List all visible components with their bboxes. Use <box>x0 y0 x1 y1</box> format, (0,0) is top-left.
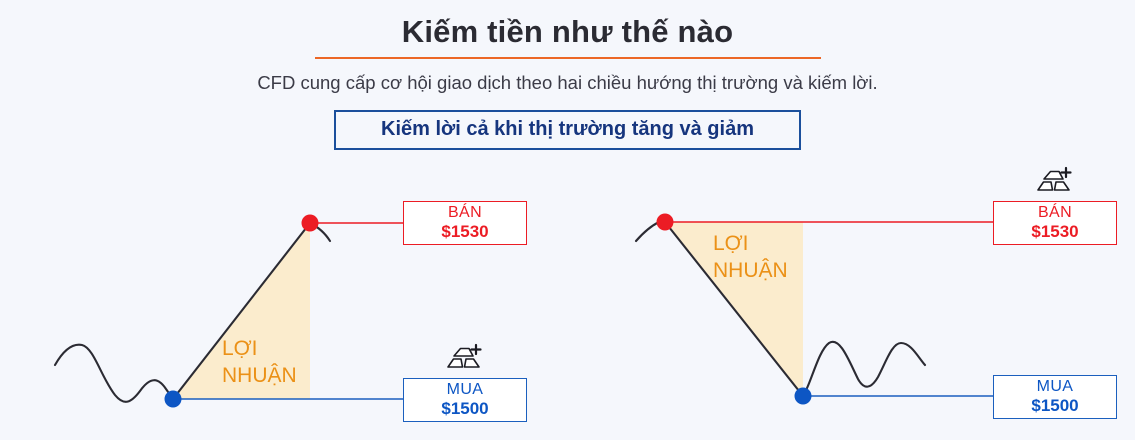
gold-bars-icon-right <box>1030 165 1076 199</box>
sell-label-price-right: $1530 <box>1031 222 1078 242</box>
profit-label-right-line1: LỢI <box>713 232 749 255</box>
sell-label-box-right[interactable]: BÁN $1530 <box>993 201 1117 245</box>
sell-label-title-right: BÁN <box>1038 204 1072 222</box>
buy-label-price-left: $1500 <box>441 399 488 419</box>
sell-label-box-left[interactable]: BÁN $1530 <box>403 201 527 245</box>
cta-banner-label: Kiếm lời cả khi thị trường tăng và giảm <box>381 117 754 141</box>
page-subtitle: CFD cung cấp cơ hội giao dịch theo hai c… <box>0 59 1135 96</box>
sell-label-price-left: $1530 <box>441 222 488 242</box>
page-header: Kiếm tiền như thế nào CFD cung cấp cơ hộ… <box>0 0 1135 150</box>
chart-rising-market: LỢI NHUẬN <box>55 215 403 408</box>
profit-label-left-line1: LỢI <box>222 337 258 360</box>
buy-label-box-left[interactable]: MUA $1500 <box>403 378 527 422</box>
sell-marker-left <box>302 215 319 232</box>
cta-wrapper: Kiếm lời cả khi thị trường tăng và giảm <box>0 110 1135 150</box>
profit-label-right-line2: NHUẬN <box>713 259 788 282</box>
charts-svg: LỢI NHUẬN LỢI NHUẬN <box>0 165 1135 440</box>
buy-label-box-right[interactable]: MUA $1500 <box>993 375 1117 419</box>
chart-falling-market: LỢI NHUẬN <box>636 214 993 405</box>
buy-marker-right <box>795 388 812 405</box>
buy-label-title-right: MUA <box>1037 378 1074 396</box>
cta-banner[interactable]: Kiếm lời cả khi thị trường tăng và giảm <box>334 110 801 150</box>
page-root: Kiếm tiền như thế nào CFD cung cấp cơ hộ… <box>0 0 1135 440</box>
buy-label-price-right: $1500 <box>1031 396 1078 416</box>
sell-label-title-left: BÁN <box>448 204 482 222</box>
profit-label-left-line2: NHUẬN <box>222 364 297 387</box>
buy-marker-left <box>165 391 182 408</box>
gold-bars-icon-left <box>440 342 486 376</box>
sell-marker-right <box>657 214 674 231</box>
page-title: Kiếm tiền như thế nào <box>0 0 1135 52</box>
charts-area: LỢI NHUẬN LỢI NHUẬN <box>0 165 1135 440</box>
buy-label-title-left: MUA <box>447 381 484 399</box>
